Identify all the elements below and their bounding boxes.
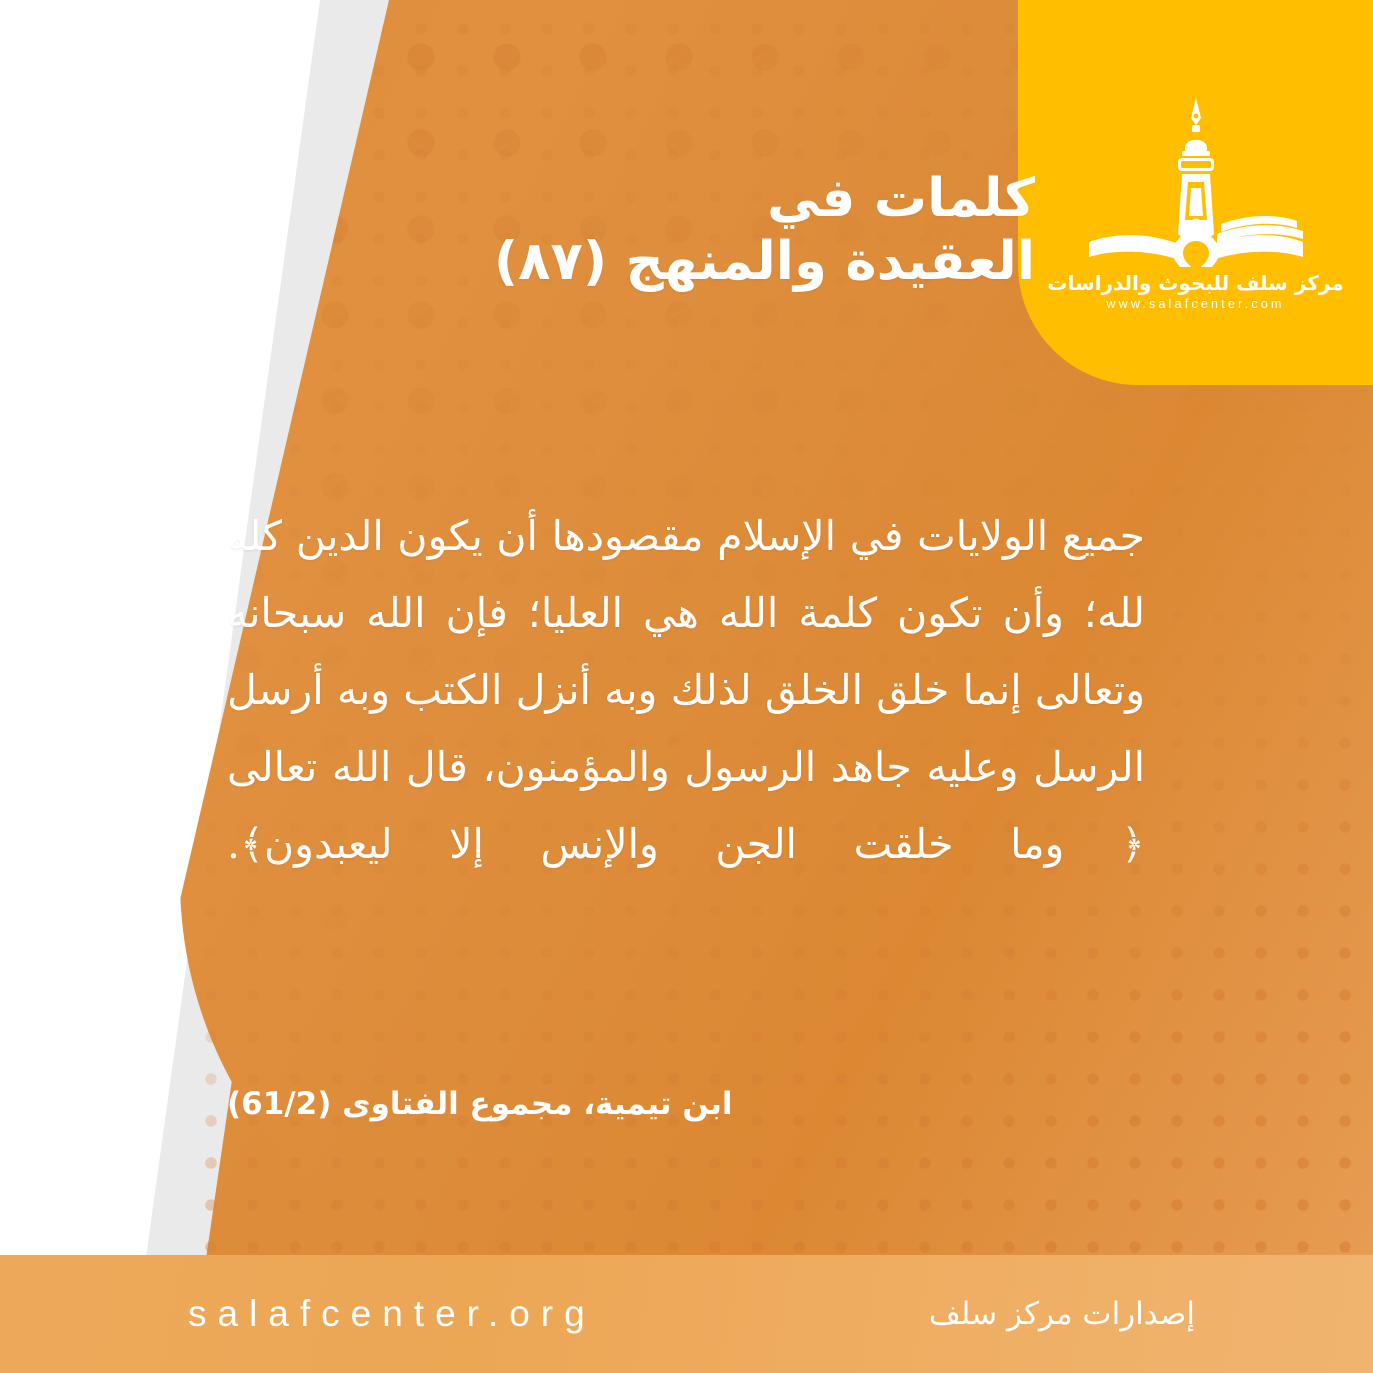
quote-text: جميع الولايات في الإسلام مقصودها أن يكون… <box>227 498 1145 883</box>
logo-website-url: www.salafcenter.com <box>1106 297 1284 311</box>
poster-canvas: مركز سلف للبحوث والدراسات www.salafcente… <box>0 0 1373 1373</box>
logo-arabic-name: مركز سلف للبحوث والدراسات <box>1047 271 1343 295</box>
footer-website[interactable]: salafcenter.org <box>188 1293 596 1335</box>
organisation-logo: مركز سلف للبحوث والدراسات www.salafcente… <box>1018 92 1373 311</box>
footer-publisher: إصدارات مركز سلف <box>929 1296 1195 1332</box>
logo-badge: مركز سلف للبحوث والدراسات www.salafcente… <box>1018 0 1373 385</box>
minaret-pen-over-open-book-icon <box>1081 92 1311 267</box>
page-title: كلمات في العقيدة والمنهج (٨٧) <box>335 168 1035 293</box>
quote-attribution: ابن تيمية، مجموع الفتاوى (61/2) <box>227 1086 1145 1122</box>
footer-band: salafcenter.org إصدارات مركز سلف <box>0 1255 1373 1373</box>
title-line-2: العقيدة والمنهج (٨٧) <box>335 231 1035 294</box>
title-line-1: كلمات في <box>335 168 1035 231</box>
